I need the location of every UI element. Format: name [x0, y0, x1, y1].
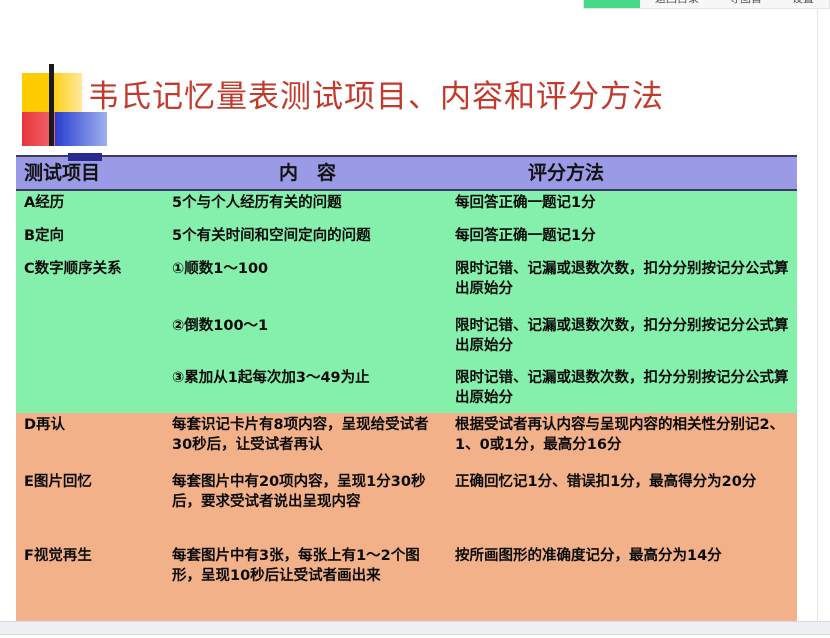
- cell-test-item: [16, 366, 164, 370]
- table-row: F视觉再生 每套图片中有3张，每张上有1～2个图形，呈现10秒后让受试者画出来 …: [16, 544, 797, 620]
- table-row: E图片回忆 每套图片中有20项内容，呈现1分30秒后，要求受试者说出呈现内容 正…: [16, 470, 797, 544]
- cell-test-item: C数字顺序关系: [16, 257, 164, 281]
- toolbar-item-settings[interactable]: 设置: [777, 0, 829, 6]
- top-toolbar-inner: 返回目录 导图首 设置: [583, 0, 830, 9]
- cell-test-item: A经历: [16, 191, 164, 215]
- horizontal-scrollbar[interactable]: [0, 621, 830, 635]
- cell-content: ③累加从1起每次加3～49为止: [164, 366, 447, 390]
- cell-content: ②倒数100～1: [164, 314, 447, 338]
- cell-test-item: D再认: [16, 413, 164, 437]
- cell-scoring: 限时记错、记漏或退数次数，扣分分别按记分公式算出原始分: [447, 366, 797, 410]
- header-accent-bar: [68, 153, 102, 161]
- cell-scoring: 正确回忆记1分、错误扣1分，最高得分为20分: [447, 470, 797, 494]
- right-gutter: [817, 9, 830, 621]
- table-row: B定向 5个有关时间和空间定向的问题 每回答正确一题记1分: [16, 224, 797, 257]
- cell-scoring: 根据受试者再认内容与呈现内容的相关性分别记2、1、0或1分，最高分16分: [447, 413, 797, 457]
- cell-content: ①顺数1～100: [164, 257, 447, 281]
- cell-content: 每套图片中有20项内容，呈现1分30秒后，要求受试者说出呈现内容: [164, 470, 447, 514]
- cell-scoring: 每回答正确一题记1分: [447, 224, 797, 248]
- cell-content: 5个与个人经历有关的问题: [164, 191, 447, 215]
- cell-test-item: B定向: [16, 224, 164, 248]
- cell-test-item: [16, 314, 164, 318]
- table-header-row: 测试项目 内 容 评分方法: [16, 155, 797, 191]
- green-badge-icon: [584, 0, 640, 8]
- column-header-test-item: 测试项目: [16, 157, 164, 189]
- table-row: ③累加从1起每次加3～49为止 限时记错、记漏或退数次数，扣分分别按记分公式算出…: [16, 361, 797, 413]
- cell-scoring: 限时记错、记漏或退数次数，扣分分别按记分公式算出原始分: [447, 257, 797, 301]
- cell-content: 5个有关时间和空间定向的问题: [164, 224, 447, 248]
- toolbar-item-mindmap-home[interactable]: 导图首: [714, 0, 777, 6]
- column-header-scoring: 评分方法: [447, 157, 797, 189]
- table-row: D再认 每套识记卡片有8项内容，呈现给受试者30秒后，让受试者再认 根据受试者再…: [16, 413, 797, 470]
- cell-test-item: E图片回忆: [16, 470, 164, 494]
- slide-canvas: 韦氏记忆量表测试项目、内容和评分方法 测试项目 内 容 评分方法 A经历 5个与…: [0, 9, 830, 638]
- cell-content: 每套图片中有3张，每张上有1～2个图形，呈现10秒后让受试者画出来: [164, 544, 447, 588]
- cell-scoring: 按所画图形的准确度记分，最高分为14分: [447, 544, 797, 568]
- cell-test-item: F视觉再生: [16, 544, 164, 568]
- column-header-content: 内 容: [164, 157, 447, 189]
- page-title: 韦氏记忆量表测试项目、内容和评分方法: [88, 75, 664, 119]
- table-row: A经历 5个与个人经历有关的问题 每回答正确一题记1分: [16, 191, 797, 224]
- top-toolbar: 返回目录 导图首 设置: [0, 0, 830, 9]
- cell-scoring: 每回答正确一题记1分: [447, 191, 797, 215]
- table-row: ②倒数100～1 限时记错、记漏或退数次数，扣分分别按记分公式算出原始分: [16, 309, 797, 361]
- deco-vertical-bar: [49, 64, 54, 146]
- table-row: C数字顺序关系 ①顺数1～100 限时记错、记漏或退数次数，扣分分别按记分公式算…: [16, 257, 797, 309]
- cell-scoring: 限时记错、记漏或退数次数，扣分分别按记分公式算出原始分: [447, 314, 797, 358]
- memory-scale-table: 测试项目 内 容 评分方法 A经历 5个与个人经历有关的问题 每回答正确一题记1…: [16, 155, 797, 626]
- toolbar-item-return-to-index[interactable]: 返回目录: [640, 0, 714, 6]
- cell-content: 每套识记卡片有8项内容，呈现给受试者30秒后，让受试者再认: [164, 413, 447, 457]
